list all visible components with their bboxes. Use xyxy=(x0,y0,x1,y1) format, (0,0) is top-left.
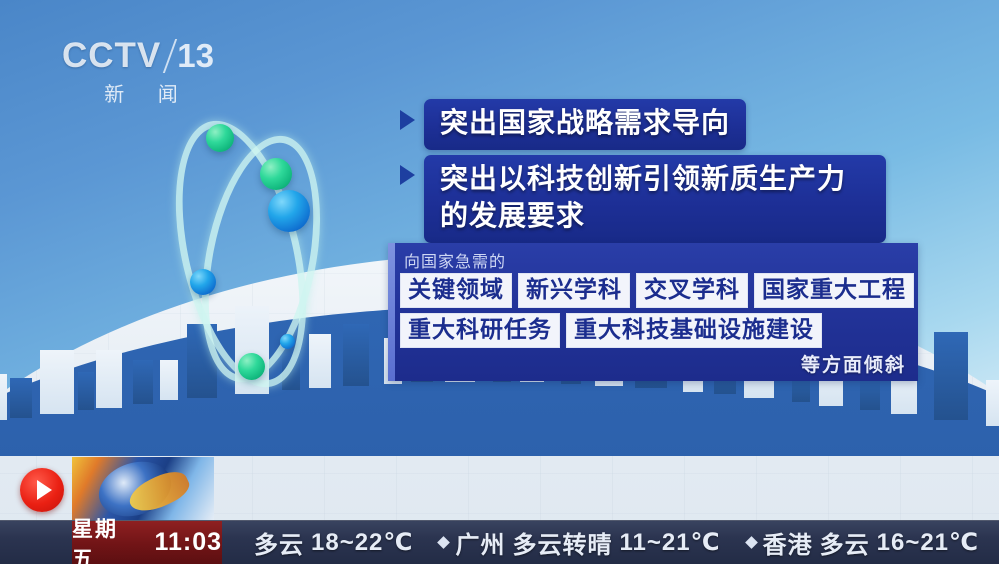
headline-banner-2: 突出以科技创新引领新质生产力的发展要求 xyxy=(424,155,886,243)
broadcast-screen: CCTV 13 新 闻 突出国家战略需求导向 突出以科技创新引领新质生产力的发展… xyxy=(0,0,999,564)
date-time-badge: 星期五 11:03 xyxy=(72,521,222,564)
atom-node-green-upper xyxy=(260,158,292,190)
tag-item: 重大科研任务 xyxy=(400,313,560,348)
panel-lead-text: 向国家急需的 xyxy=(404,248,506,272)
atom-node-green-bottom xyxy=(238,353,265,380)
bullet-arrow-icon-2 xyxy=(400,165,415,185)
atom-node-blue-small xyxy=(280,334,295,349)
headline-banner-1: 突出国家战略需求导向 xyxy=(424,99,746,150)
tag-row-1: 关键领域 新兴学科 交叉学科 国家重大工程 xyxy=(400,273,908,308)
separator-diamond-icon xyxy=(438,536,451,549)
info-panel: 向国家急需的 关键领域 新兴学科 交叉学科 国家重大工程 重大科研任务 重大科技… xyxy=(388,243,918,381)
panel-tail-text: 等方面倾斜 xyxy=(801,350,906,377)
weather-item-2: 广州 多云转晴 11~21℃ xyxy=(439,525,720,560)
atom-node-green-top xyxy=(206,124,234,152)
weather-temp: 11~21℃ xyxy=(619,528,720,557)
logo-slash-icon xyxy=(163,39,177,73)
weather-city: 广州 xyxy=(455,525,505,560)
tag-item: 国家重大工程 xyxy=(754,273,914,308)
atom-node-blue-left xyxy=(190,269,216,295)
channel-name: CCTV xyxy=(62,36,161,76)
tag-item: 交叉学科 xyxy=(636,273,748,308)
separator-diamond-icon xyxy=(745,536,758,549)
tag-item: 新兴学科 xyxy=(518,273,630,308)
channel-subtitle: 新 闻 xyxy=(62,78,222,107)
weather-condition: 多云 xyxy=(254,525,304,560)
weather-condition: 多云转晴 xyxy=(512,525,612,560)
weather-item-1: 多云 18~22℃ xyxy=(232,525,413,560)
atom-molecule-graphic xyxy=(168,112,338,397)
channel-logo: CCTV 13 新 闻 xyxy=(62,36,222,104)
weather-ticker: 多云 18~22℃ 广州 多云转晴 11~21℃ 香港 多云 16~21℃ xyxy=(222,525,979,560)
tag-item: 关键领域 xyxy=(400,273,512,308)
clock-label: 11:03 xyxy=(154,528,222,557)
play-triangle-icon xyxy=(37,480,52,500)
tag-row-2: 重大科研任务 重大科技基础设施建设 xyxy=(400,313,908,348)
bullet-arrow-icon-1 xyxy=(400,110,415,130)
bottom-ticker-bar: 星期五 11:03 多云 18~22℃ 广州 多云转晴 11~21℃ 香港 多云… xyxy=(0,520,999,564)
weather-temp: 18~22℃ xyxy=(311,528,413,557)
weather-condition: 多云 xyxy=(820,525,870,560)
play-button-logo xyxy=(20,468,64,512)
channel-number: 13 xyxy=(177,37,214,75)
weather-city: 香港 xyxy=(763,525,813,560)
weekday-label: 星期五 xyxy=(72,513,136,564)
atom-node-blue-large xyxy=(268,190,310,232)
weather-item-3: 香港 多云 16~21℃ xyxy=(747,525,979,560)
panel-tag-rows: 关键领域 新兴学科 交叉学科 国家重大工程 重大科研任务 重大科技基础设施建设 xyxy=(400,273,908,353)
tag-item: 重大科技基础设施建设 xyxy=(566,313,822,348)
weather-temp: 16~21℃ xyxy=(877,528,979,557)
